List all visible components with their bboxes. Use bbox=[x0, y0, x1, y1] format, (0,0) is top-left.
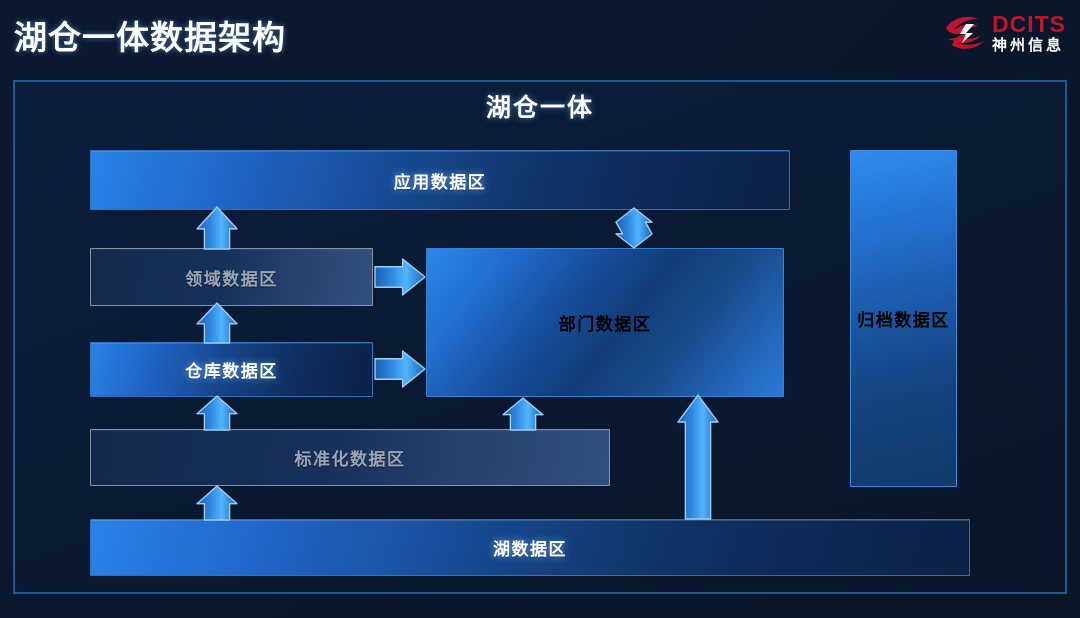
diagram-title: 湖仓一体 bbox=[15, 88, 1065, 124]
node-label-app: 应用数据区 bbox=[394, 168, 487, 193]
slide-header: 湖仓一体数据架构 DCITS 神州信息 bbox=[0, 0, 1080, 68]
arrow-warehouse-to-dept bbox=[374, 350, 426, 388]
node-label-standard: 标准化数据区 bbox=[295, 445, 406, 470]
node-label-domain: 领域数据区 bbox=[185, 265, 278, 290]
node-lake[interactable]: 湖数据区 bbox=[90, 519, 970, 576]
node-label-warehouse: 仓库数据区 bbox=[185, 357, 278, 382]
dcits-swirl-icon bbox=[942, 12, 988, 54]
node-archive[interactable]: 归档数据区 bbox=[850, 150, 957, 487]
page-title: 湖仓一体数据架构 bbox=[14, 11, 286, 59]
node-warehouse[interactable]: 仓库数据区 bbox=[90, 342, 373, 397]
node-domain[interactable]: 领域数据区 bbox=[90, 248, 373, 306]
node-label-archive: 归档数据区 bbox=[857, 306, 950, 331]
brand-text: DCITS 神州信息 bbox=[992, 13, 1066, 53]
slide-canvas: 湖仓一体数据架构 DCITS 神州信息 湖仓一体 应用数据区领域数据区仓库数据区… bbox=[0, 0, 1080, 618]
brand-logo: DCITS 神州信息 bbox=[942, 9, 1066, 57]
node-standard[interactable]: 标准化数据区 bbox=[90, 429, 610, 486]
arrow-dept-to-app bbox=[615, 207, 653, 249]
arrow-warehouse-to-domain bbox=[196, 302, 238, 344]
node-app[interactable]: 应用数据区 bbox=[90, 150, 790, 210]
arrow-standard-to-warehouse bbox=[196, 395, 238, 431]
diagram-frame: 湖仓一体 应用数据区领域数据区仓库数据区标准化数据区湖数据区部门数据区归档数据区 bbox=[13, 80, 1067, 594]
arrow-standard-to-dept bbox=[502, 397, 544, 431]
brand-name-cn: 神州信息 bbox=[992, 38, 1066, 53]
arrow-lake-to-standard bbox=[196, 485, 238, 521]
arrow-lake-to-dept bbox=[677, 394, 719, 520]
brand-name-en: DCITS bbox=[992, 13, 1066, 36]
node-label-lake: 湖数据区 bbox=[493, 535, 567, 560]
arrow-domain-to-dept bbox=[374, 258, 426, 296]
node-dept[interactable]: 部门数据区 bbox=[426, 248, 784, 397]
arrow-domain-to-app bbox=[196, 206, 238, 250]
node-label-dept: 部门数据区 bbox=[559, 310, 652, 335]
